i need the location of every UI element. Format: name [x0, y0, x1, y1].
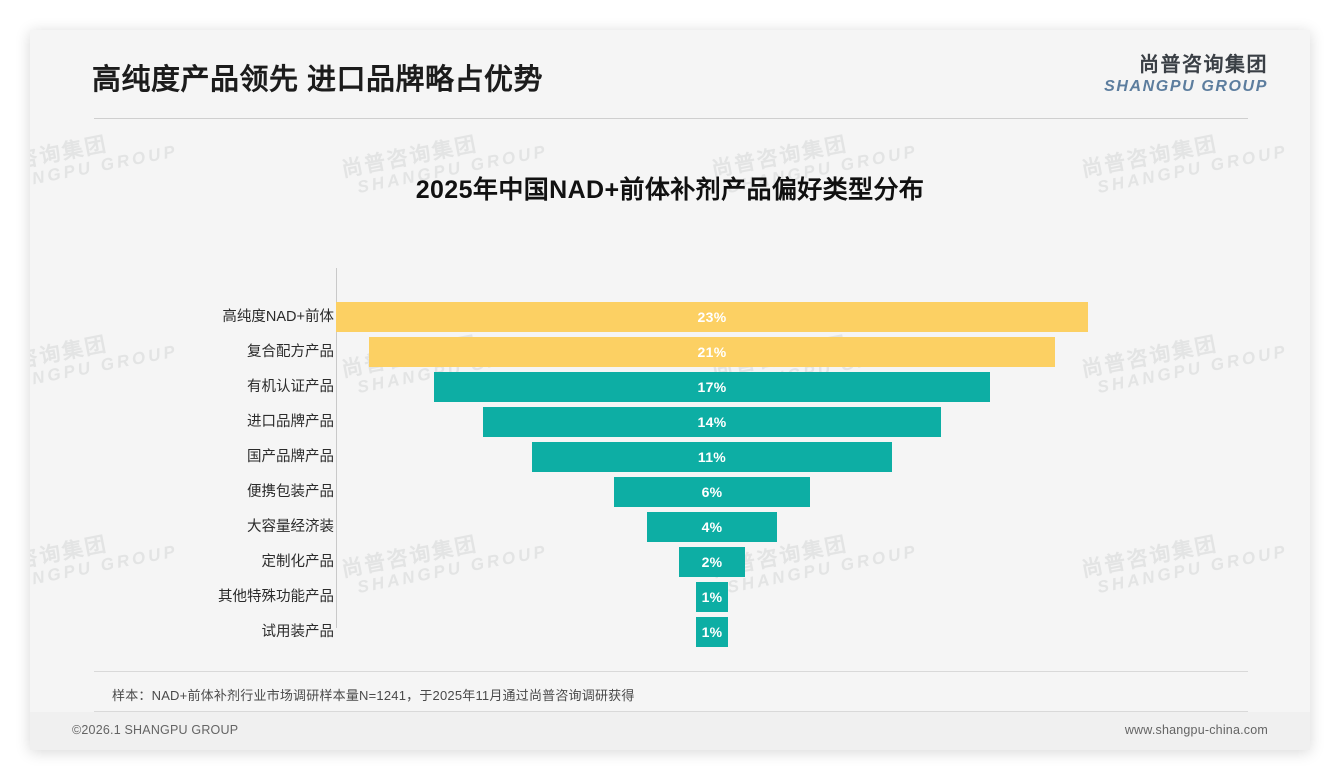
bar-row: 高纯度NAD+前体23%	[30, 302, 1310, 332]
bar-row: 有机认证产品17%	[30, 372, 1310, 402]
bar-category-label: 复合配方产品	[247, 337, 334, 367]
chart-title: 2025年中国NAD+前体补剂产品偏好类型分布	[30, 170, 1310, 206]
bar-value-label: 17%	[698, 379, 727, 395]
bar-value-label: 2%	[702, 554, 723, 570]
bar-row: 便携包装产品6%	[30, 477, 1310, 507]
bar-value-label: 6%	[702, 484, 723, 500]
bar-category-label: 进口品牌产品	[247, 407, 334, 437]
bar-category-label: 大容量经济装	[247, 512, 334, 542]
bar-value-label: 4%	[702, 519, 723, 535]
bar-segment[interactable]: 21%	[369, 337, 1056, 367]
bar-row: 试用装产品1%	[30, 617, 1310, 647]
website-link[interactable]: www.shangpu-china.com	[1125, 723, 1268, 737]
bar-segment[interactable]: 17%	[434, 372, 990, 402]
note-divider-top	[94, 671, 1248, 672]
bar-category-label: 定制化产品	[262, 547, 335, 577]
bar-segment[interactable]: 6%	[614, 477, 810, 507]
page-title: 高纯度产品领先 进口品牌略占优势	[92, 56, 543, 98]
bar-row: 国产品牌产品11%	[30, 442, 1310, 472]
bar-category-label: 高纯度NAD+前体	[222, 302, 334, 332]
bar-row: 定制化产品2%	[30, 547, 1310, 577]
bar-segment[interactable]: 11%	[532, 442, 892, 472]
bar-category-label: 有机认证产品	[247, 372, 334, 402]
slide-canvas: 尚普咨询集团SHANGPU GROUP尚普咨询集团SHANGPU GROUP尚普…	[30, 30, 1310, 750]
funnel-chart: 高纯度NAD+前体23%复合配方产品21%有机认证产品17%进口品牌产品14%国…	[30, 268, 1310, 668]
bar-category-label: 国产品牌产品	[247, 442, 334, 472]
bar-value-label: 21%	[698, 344, 727, 360]
copyright-text: ©2026.1 SHANGPU GROUP	[72, 723, 238, 737]
bar-value-label: 11%	[698, 449, 726, 465]
bar-row: 其他特殊功能产品1%	[30, 582, 1310, 612]
bar-segment[interactable]: 23%	[336, 302, 1088, 332]
bar-segment[interactable]: 1%	[696, 582, 729, 612]
bar-value-label: 1%	[702, 624, 723, 640]
slide-header: 高纯度产品领先 进口品牌略占优势 尚普咨询集团 SHANGPU GROUP	[30, 30, 1310, 120]
bar-value-label: 23%	[698, 309, 727, 325]
bar-category-label: 试用装产品	[262, 617, 335, 647]
bar-row: 进口品牌产品14%	[30, 407, 1310, 437]
brand-name-en: SHANGPU GROUP	[1104, 77, 1268, 96]
bar-segment[interactable]: 4%	[647, 512, 778, 542]
bar-segment[interactable]: 2%	[679, 547, 744, 577]
bar-value-label: 1%	[702, 589, 723, 605]
bar-segment[interactable]: 14%	[483, 407, 941, 437]
bar-category-label: 便携包装产品	[247, 477, 334, 507]
bar-value-label: 14%	[698, 414, 727, 430]
brand-logo: 尚普咨询集团 SHANGPU GROUP	[1104, 54, 1268, 96]
bar-category-label: 其他特殊功能产品	[218, 582, 334, 612]
sample-note: 样本：NAD+前体补剂行业市场调研样本量N=1241，于2025年11月通过尚普…	[112, 685, 635, 704]
header-divider	[94, 118, 1248, 119]
brand-name-cn: 尚普咨询集团	[1104, 54, 1268, 77]
bar-row: 复合配方产品21%	[30, 337, 1310, 367]
slide-footer-bar: ©2026.1 SHANGPU GROUP www.shangpu-china.…	[30, 712, 1310, 750]
bar-row: 大容量经济装4%	[30, 512, 1310, 542]
bar-segment[interactable]: 1%	[696, 617, 729, 647]
